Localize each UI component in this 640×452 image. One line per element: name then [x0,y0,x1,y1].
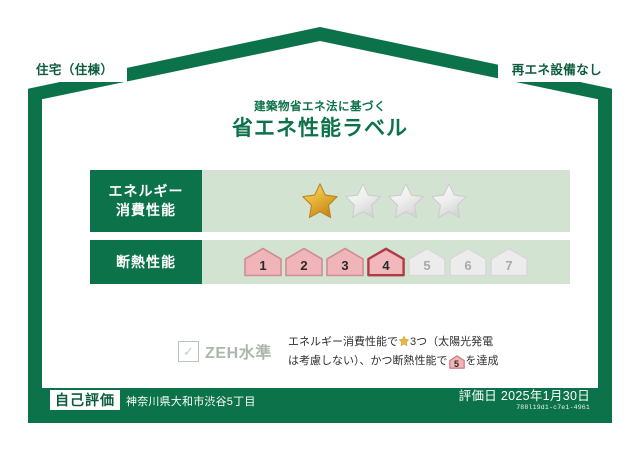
insulation-grade-scale: 1 2 3 [244,247,528,277]
label-subtitle: 建築物省エネ法に基づく [28,101,612,115]
insulation-badge-5: 5 [408,247,446,277]
evaluation-date: 評価日 2025年1月30日 [459,389,590,403]
insulation-badge-label: 2 [300,258,307,277]
energy-performance-label-line2: 消費性能 [116,201,176,220]
label-title: 省エネ性能ラベル [28,115,612,143]
footer-left-group: 自己評価 神奈川県大和市渋谷5丁目 [50,390,256,410]
insulation-performance-row: 断熱性能 1 2 [90,240,570,284]
insulation-badge-label: 3 [341,258,348,277]
star-empty-icon [385,180,427,222]
insulation-performance-label: 断熱性能 [90,240,202,284]
insulation-performance-value: 1 2 3 [202,240,570,284]
inline-star-icon [398,335,410,347]
zeh-label: ZEH水準 [205,339,272,363]
property-address: 神奈川県大和市渋谷5丁目 [126,393,256,409]
star-rating [299,180,470,222]
check-icon: ✓ [183,345,194,358]
zeh-checkbox-group: ✓ ZEH水準 [178,339,272,363]
star-empty-icon [428,180,470,222]
insulation-badge-label: 6 [464,258,471,277]
zeh-description-line1-b: 3つ（太陽光発電 [410,336,493,348]
insulation-performance-label-line1: 断熱性能 [116,253,176,272]
insulation-badge-2: 2 [285,247,323,277]
inline-insulation-badge-label: 5 [449,355,465,373]
insulation-badge-1: 1 [244,247,282,277]
zeh-description-line2-b: を達成 [466,355,499,367]
renewable-energy-tab: 再エネ設備なし [498,54,612,82]
insulation-badge-label: 5 [423,258,430,277]
energy-performance-label-screen: 住宅（住棟） 再エネ設備なし 建築物省エネ法に基づく 省エネ性能ラベル エネルギ… [0,0,640,452]
energy-performance-label-line1: エネルギー [109,182,184,201]
renewable-energy-label: 再エネ設備なし [512,59,602,78]
zeh-description-line2: は考慮しない）、かつ断熱性能で5を達成 [288,352,499,371]
insulation-badge-7: 7 [490,247,528,277]
ratings-container: エネルギー 消費性能 [90,170,570,292]
zeh-description-line1-a: エネルギー消費性能で [288,336,398,348]
insulation-badge-6: 6 [449,247,487,277]
footer-right-group: 評価日 2025年1月30日 788l19d1-c7e1-4961 [459,389,590,411]
building-type-label: 住宅（住棟） [36,59,113,78]
evaluation-id: 788l19d1-c7e1-4961 [459,404,590,411]
zeh-criteria-block: ✓ ZEH水準 エネルギー消費性能で3つ（太陽光発電 は考慮しない）、かつ断熱性… [178,333,499,372]
self-evaluation-badge: 自己評価 [50,390,120,410]
insulation-badge-label: 1 [259,258,266,277]
energy-performance-value [202,170,570,232]
building-type-tab: 住宅（住棟） [28,54,127,82]
label-footer: 自己評価 神奈川県大和市渋谷5丁目 評価日 2025年1月30日 788l19d… [42,385,598,415]
star-filled-icon [299,180,341,222]
insulation-badge-label: 7 [505,258,512,277]
label-title-group: 建築物省エネ法に基づく 省エネ性能ラベル [28,101,612,143]
energy-performance-row: エネルギー 消費性能 [90,170,570,232]
insulation-badge-3: 3 [326,247,364,277]
star-empty-icon [342,180,384,222]
zeh-description-line2-a: は考慮しない）、かつ断熱性能で [288,355,448,367]
inline-insulation-badge: 5 [449,355,465,369]
energy-performance-label: エネルギー 消費性能 [90,170,202,232]
insulation-badge-label: 4 [382,258,389,277]
zeh-description: エネルギー消費性能で3つ（太陽光発電 は考慮しない）、かつ断熱性能で5を達成 [288,333,499,372]
zeh-checkbox: ✓ [178,341,199,362]
insulation-badge-4-selected: 4 [367,247,405,277]
energy-label-card: 住宅（住棟） 再エネ設備なし 建築物省エネ法に基づく 省エネ性能ラベル エネルギ… [28,27,612,423]
zeh-description-line1: エネルギー消費性能で3つ（太陽光発電 [288,333,499,352]
